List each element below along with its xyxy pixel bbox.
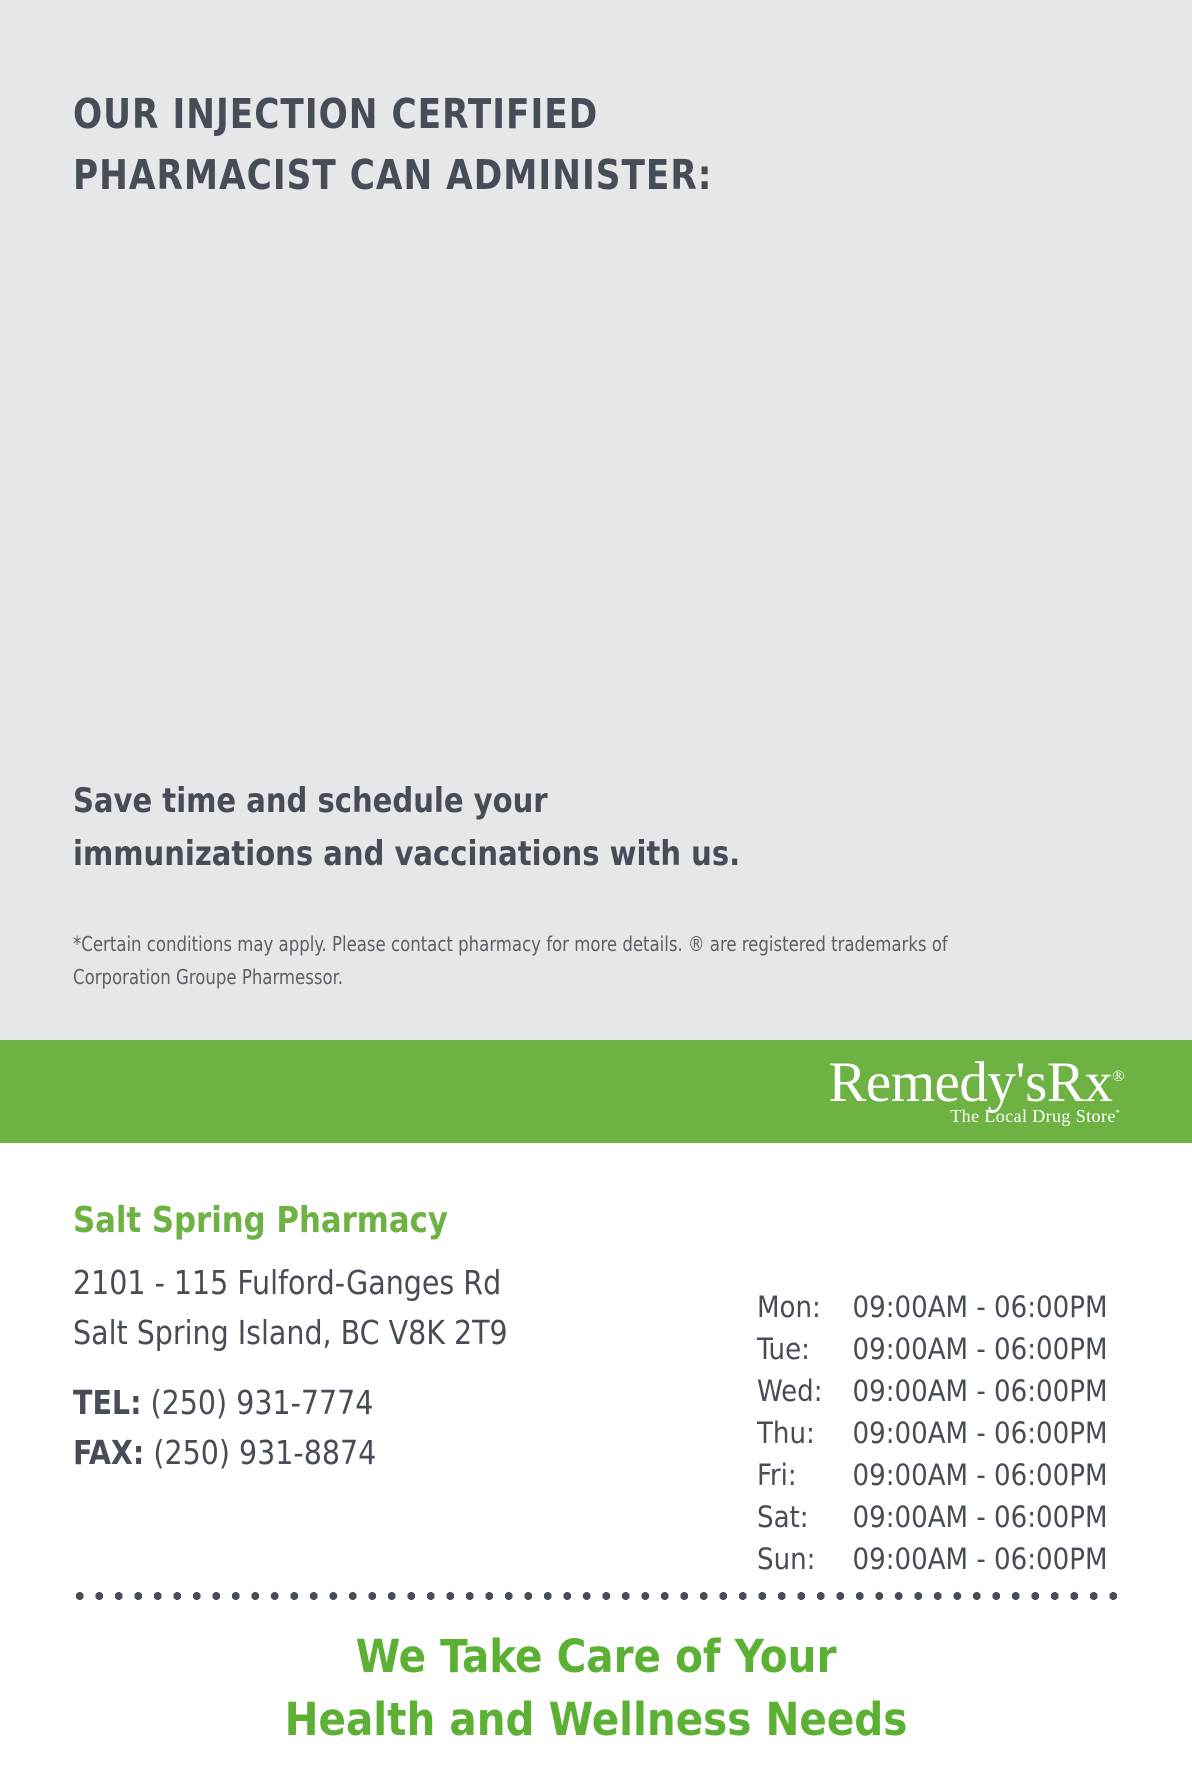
fax-label: FAX: xyxy=(73,1433,144,1472)
promo-subheading: Save time and schedule your immunization… xyxy=(73,775,1023,881)
page-title-line-1: OUR INJECTION CERTIFIED xyxy=(73,84,947,145)
fax-row: FAX: (250) 931-8874 xyxy=(73,1428,376,1478)
table-row: Mon: 09:00AM - 06:00PM xyxy=(757,1293,1107,1335)
table-row: Fri: 09:00AM - 06:00PM xyxy=(757,1461,1107,1503)
hours-day-label: Sun: xyxy=(757,1545,853,1587)
store-name: Salt Spring Pharmacy xyxy=(73,1200,448,1241)
closing-tagline-line-2: Health and Wellness Needs xyxy=(0,1688,1192,1751)
promo-panel: OUR INJECTION CERTIFIED PHARMACIST CAN A… xyxy=(0,0,1192,1040)
table-row: Tue: 09:00AM - 06:00PM xyxy=(757,1335,1107,1377)
promo-subheading-line-2: immunizations and vaccinations with us. xyxy=(73,828,1023,881)
dotted-divider xyxy=(70,1592,1125,1600)
vaccine-list-illustration xyxy=(73,215,1119,740)
hours-time-value: 09:00AM - 06:00PM xyxy=(853,1419,1108,1461)
hours-day-label: Mon: xyxy=(757,1293,853,1335)
table-row: Sat: 09:00AM - 06:00PM xyxy=(757,1503,1107,1545)
hours-day-label: Fri: xyxy=(757,1461,853,1503)
store-phone-numbers: TEL: (250) 931-7774 FAX: (250) 931-8874 xyxy=(73,1378,376,1478)
address-line-2: Salt Spring Island, BC V8K 2T9 xyxy=(73,1308,508,1358)
table-row: Sun: 09:00AM - 06:00PM xyxy=(757,1545,1107,1587)
store-address: 2101 - 115 Fulford-Ganges Rd Salt Spring… xyxy=(73,1258,508,1358)
address-line-1: 2101 - 115 Fulford-Ganges Rd xyxy=(73,1258,508,1308)
hours-time-value: 09:00AM - 06:00PM xyxy=(853,1335,1108,1377)
table-row: Wed: 09:00AM - 06:00PM xyxy=(757,1377,1107,1419)
hours-day-label: Sat: xyxy=(757,1503,853,1545)
hours-day-label: Wed: xyxy=(757,1377,853,1419)
closing-tagline-line-1: We Take Care of Your xyxy=(0,1625,1192,1688)
table-row: Thu: 09:00AM - 06:00PM xyxy=(757,1419,1107,1461)
store-hours-body: Mon: 09:00AM - 06:00PM Tue: 09:00AM - 06… xyxy=(757,1293,1107,1587)
disclaimer-line-1: *Certain conditions may apply. Please co… xyxy=(73,928,1048,961)
page-title: OUR INJECTION CERTIFIED PHARMACIST CAN A… xyxy=(73,84,947,206)
hours-time-value: 09:00AM - 06:00PM xyxy=(853,1293,1108,1335)
store-hours-table: Mon: 09:00AM - 06:00PM Tue: 09:00AM - 06… xyxy=(757,1293,1107,1587)
telephone-value[interactable]: (250) 931-7774 xyxy=(151,1383,374,1422)
fax-value: (250) 931-8874 xyxy=(153,1433,376,1472)
hours-time-value: 09:00AM - 06:00PM xyxy=(853,1545,1108,1587)
disclaimer-line-2: Corporation Groupe Pharmessor. xyxy=(73,961,1048,994)
hours-time-value: 09:00AM - 06:00PM xyxy=(853,1377,1108,1419)
brand-tagline-text: The Local Drug Store xyxy=(950,1106,1115,1126)
page-title-line-2: PHARMACIST CAN ADMINISTER: xyxy=(73,145,947,206)
closing-tagline: We Take Care of Your Health and Wellness… xyxy=(0,1625,1192,1751)
telephone-row: TEL: (250) 931-7774 xyxy=(73,1378,376,1428)
brand-wordmark-text: Remedy'sRx xyxy=(828,1051,1112,1114)
remedysrx-logo: Remedy'sRx® The Local Drug Store• xyxy=(828,1054,1124,1125)
telephone-label: TEL: xyxy=(73,1383,141,1422)
promo-subheading-line-1: Save time and schedule your xyxy=(73,775,1023,828)
brand-band: Remedy'sRx® The Local Drug Store• xyxy=(0,1040,1192,1143)
hours-day-label: Thu: xyxy=(757,1419,853,1461)
hours-time-value: 09:00AM - 06:00PM xyxy=(853,1503,1108,1545)
registered-trademark-icon: ® xyxy=(1112,1068,1124,1085)
hours-time-value: 09:00AM - 06:00PM xyxy=(853,1461,1108,1503)
disclaimer-text: *Certain conditions may apply. Please co… xyxy=(73,928,1048,994)
brand-wordmark: Remedy'sRx® xyxy=(828,1054,1124,1111)
hours-day-label: Tue: xyxy=(757,1335,853,1377)
trademark-dot-icon: • xyxy=(1116,1106,1120,1118)
